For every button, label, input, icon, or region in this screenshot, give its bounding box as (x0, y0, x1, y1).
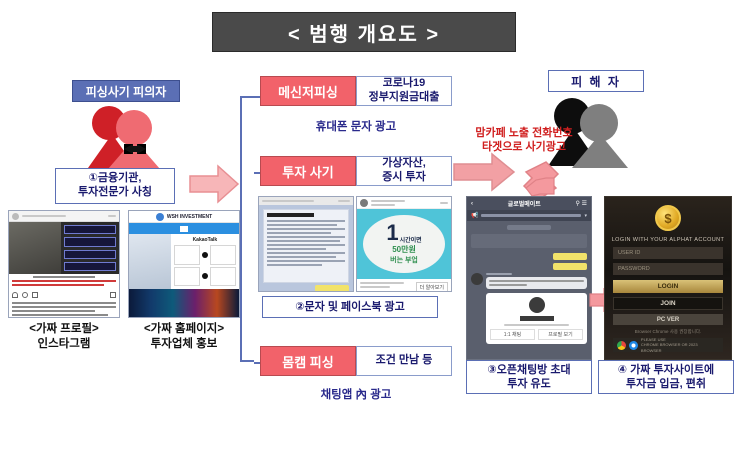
fake-site-login-note: Browser Chrome 사용 권장합니다. (605, 329, 731, 335)
fake-site-pc-version-button[interactable]: PC VER (613, 314, 723, 325)
caption-step2-text: ②문자 및 페이스북 광고 (295, 300, 405, 314)
fake-site-userid-placeholder: USER ID (618, 250, 640, 256)
facebook-page-name-line (371, 200, 405, 202)
facebook-ad-line2: 버는 부업 (390, 255, 418, 265)
homepage-contact-cell[interactable] (210, 267, 236, 287)
sms-text-line (267, 220, 345, 222)
facebook-ad-sub-line (360, 286, 390, 288)
fake-site-login-screen: $ LOGIN WITH YOUR ALPHAT ACCOUNT USER ID… (605, 197, 731, 359)
row-label-investment-fraud: 투자 사기 (260, 156, 356, 186)
caption-step2-sms-facebook: ②문자 및 페이스북 광고 (262, 296, 438, 318)
instagram-text-line-red (12, 280, 116, 282)
facebook-page-avatar (360, 199, 368, 207)
facebook-ad-footer: 더 알아보기 (357, 279, 451, 291)
sms-text-line (267, 260, 345, 262)
sms-header-line (338, 200, 350, 202)
kakao-profile-card-buttons[interactable]: 1:1 채팅 프로필 보기 (490, 329, 583, 340)
bookmark-icon[interactable] (110, 292, 116, 298)
suspect-caption-text: ①금융기관, 투자전문가 사칭 (78, 172, 152, 200)
instagram-text-line (33, 276, 95, 278)
row-sub-sextortion-phishing: 채팅앱 內 광고 (256, 386, 456, 402)
instagram-more-icon (108, 215, 116, 217)
fake-site-password-input[interactable]: PASSWORD (613, 263, 723, 275)
instagram-text-line (12, 314, 108, 316)
suspect-person-icon (88, 106, 180, 168)
instagram-action-bar[interactable] (9, 290, 119, 300)
arrow-suspect-to-rows (188, 162, 240, 206)
fake-site-userid-input[interactable]: USER ID (613, 247, 723, 259)
kakao-view-profile-button[interactable]: 프로필 보기 (538, 329, 583, 340)
instagram-promo-chip (64, 262, 116, 271)
homepage-contact-cell[interactable] (174, 267, 200, 287)
kakao-message-line (489, 284, 527, 286)
homepage-person-photo (129, 234, 171, 289)
facebook-ad-creative: 1 시간이면 50만원 버는 부업 (357, 209, 451, 279)
screenshot-kakao-open-chat[interactable]: ‹ 글로벌메이트 ⚲ ☰ 📢 ▾ (466, 196, 592, 360)
hamburger-menu-icon[interactable] (180, 226, 188, 232)
facebook-post-header (357, 197, 451, 209)
kakao-profile-card[interactable]: 1:1 채팅 프로필 보기 (486, 293, 587, 344)
megaphone-icon: 📢 (471, 212, 478, 219)
caption-fake-profile: <가짜 프로필> 인스타그램 (4, 322, 124, 352)
kakao-incoming-bubble (486, 277, 587, 289)
facebook-more-icon[interactable] (440, 202, 448, 204)
row-sub-messenger-phishing-text: 휴대폰 문자 광고 (316, 121, 396, 133)
back-icon[interactable]: ‹ (471, 201, 473, 207)
instagram-promo-chip (64, 225, 116, 234)
row-detail-investment-fraud-text: 가상자산, 증시 투자 (382, 157, 426, 185)
instagram-username-placeholder (22, 215, 66, 217)
row-detail-sextortion-phishing: 조건 만남 등 (356, 346, 452, 376)
arrow-rows-to-victim (452, 152, 516, 192)
sms-text-line (267, 228, 345, 230)
sms-text-line (267, 244, 345, 246)
caption-step4-fake-site: ④ 가짜 투자사이트에 투자금 입금, 편취 (598, 360, 734, 394)
instagram-text-line-red (12, 284, 104, 286)
homepage-navbar[interactable] (129, 223, 239, 234)
chevron-down-icon[interactable]: ▾ (584, 213, 587, 219)
kakao-sender-name-line (486, 273, 512, 275)
sms-header-line (262, 200, 314, 202)
instagram-header (9, 211, 119, 222)
sms-text-line (267, 224, 337, 226)
row-label-messenger-phishing: 메신저피싱 (260, 76, 356, 106)
suspect-caption: ①금융기관, 투자전문가 사칭 (55, 168, 175, 204)
sms-bubble-outgoing (315, 285, 349, 292)
homepage-contact-grid: KakaoTalk (171, 234, 239, 289)
victim-note: 맘카페 노출 전화번호 타겟으로 사기광고 (424, 126, 624, 155)
row-label-sextortion-phishing-text: 몸캠 피싱 (282, 352, 333, 371)
fake-site-browser-note: PLEASE USE CHROME BROWSER OR 2023 BROWSE… (641, 337, 719, 353)
kakao-outgoing-bubble (553, 263, 587, 270)
instagram-text-line (12, 306, 116, 308)
kakao-direct-chat-button[interactable]: 1:1 채팅 (490, 329, 535, 340)
screenshot-facebook-advertisement[interactable]: 1 시간이면 50만원 버는 부업 더 알아보기 (356, 196, 452, 292)
row-label-sextortion-phishing: 몸캠 피싱 (260, 346, 356, 376)
instagram-text-line (12, 302, 116, 304)
fake-site-login-button[interactable]: LOGIN (613, 280, 723, 293)
instagram-post-redtext-block (9, 274, 119, 290)
homepage-hero: KakaoTalk (129, 234, 239, 289)
instagram-promo-chip (64, 250, 116, 259)
sms-text-line (267, 236, 345, 238)
caption-step3-openchat: ③오픈채팅방 초대 투자 유도 (466, 360, 592, 394)
row-sub-sextortion-phishing-text: 채팅앱 內 광고 (321, 389, 392, 401)
sms-text-line (267, 256, 336, 258)
fake-site-password-placeholder: PASSWORD (618, 266, 650, 272)
facebook-learn-more-button[interactable]: 더 알아보기 (416, 282, 448, 292)
fake-site-login-heading: LOGIN WITH YOUR ALPHAT ACCOUNT (605, 237, 731, 243)
homepage-brand-text: WSH INVESTMENT (167, 214, 212, 220)
kakao-room-title: 글로벌메이트 (508, 199, 541, 208)
instagram-text-line (12, 310, 95, 312)
kakao-chat-body: 1:1 채팅 프로필 보기 (467, 221, 591, 359)
edge-icon (629, 341, 638, 350)
homepage-brand-bar: WSH INVESTMENT (129, 211, 239, 223)
kakao-date-divider (507, 225, 551, 230)
sms-header (259, 197, 353, 205)
kakao-sender-avatar (471, 273, 483, 285)
facebook-ad-unit: 시간이면 (400, 235, 422, 244)
instagram-post-image (9, 222, 119, 274)
caption-fake-homepage: <가짜 홈페이지> 투자업체 홍보 (124, 322, 244, 352)
victim-note-text: 맘카페 노출 전화번호 타겟으로 사기광고 (475, 127, 572, 153)
diagram-title: < 범행 개요도 > (212, 12, 516, 52)
row-detail-sextortion-phishing-text: 조건 만남 등 (376, 354, 433, 368)
sms-thread (259, 205, 353, 291)
row-label-investment-fraud-text: 투자 사기 (282, 162, 333, 181)
comment-icon[interactable] (22, 292, 28, 298)
diagram-title-text: < 범행 개요도 > (288, 18, 440, 47)
chrome-icon (617, 341, 626, 350)
facebook-ad-headline-line (360, 282, 404, 284)
gear-icon (202, 252, 208, 258)
row-detail-investment-fraud: 가상자산, 증시 투자 (356, 156, 452, 186)
suspect-label-text: 피싱사기 피의자 (86, 83, 167, 100)
kakao-header-actions[interactable]: ⚲ ☰ (576, 200, 587, 207)
homepage-market-chart-image (129, 289, 239, 318)
facebook-sponsored-line (371, 204, 395, 206)
heart-icon[interactable] (12, 292, 18, 298)
gear-icon (202, 273, 208, 279)
sms-text-line (267, 264, 322, 266)
sms-text-line (267, 252, 345, 254)
instagram-avatar-icon (12, 213, 19, 220)
suspect-bowtie-icon (124, 144, 146, 154)
screenshot-fake-investment-site[interactable]: $ LOGIN WITH YOUR ALPHAT ACCOUNT USER ID… (604, 196, 732, 360)
sms-text-line (267, 232, 331, 234)
facebook-ad-oval: 1 시간이면 50만원 버는 부업 (363, 215, 446, 274)
kakao-profile-desc-line (504, 324, 569, 326)
kakao-chat-header: ‹ 글로벌메이트 ⚲ ☰ (467, 197, 591, 210)
victim-label: 피 해 자 (548, 70, 644, 92)
instagram-promo-chip (64, 237, 116, 246)
homepage-contact-row (174, 245, 236, 265)
homepage-contact-cell[interactable] (210, 245, 236, 265)
screenshot-fake-homepage[interactable]: WSH INVESTMENT KakaoTalk (128, 210, 240, 318)
screenshot-fake-instagram-profile[interactable] (8, 210, 120, 318)
kakao-notice-bar[interactable]: 📢 ▾ (467, 210, 591, 221)
kakao-message-line (489, 280, 584, 282)
homepage-logo-icon (156, 213, 164, 221)
victim-label-text: 피 해 자 (571, 73, 621, 90)
sms-redacted-line (267, 213, 314, 217)
kakao-brand-text: KakaoTalk (174, 237, 236, 243)
row-label-messenger-phishing-text: 메신저피싱 (278, 82, 338, 101)
kakao-system-notice (471, 234, 587, 248)
row-detail-messenger-phishing: 코로나19 정부지원금대출 (356, 76, 452, 106)
kakao-notice-text-line (481, 214, 581, 217)
instagram-post-person-photo (9, 222, 61, 274)
share-icon[interactable] (32, 292, 38, 298)
homepage-contact-row (174, 267, 236, 287)
coin-icon: $ (655, 205, 681, 231)
facebook-ad-big-number: 1 (386, 222, 398, 244)
sms-text-line (267, 248, 326, 250)
row-detail-messenger-phishing-text: 코로나19 정부지원금대출 (369, 77, 440, 105)
fake-site-join-button[interactable]: JOIN (613, 297, 723, 310)
kakao-outgoing-bubble (553, 253, 587, 260)
suspect-label: 피싱사기 피의자 (72, 80, 180, 102)
fake-site-browser-bar: PLEASE USE CHROME BROWSER OR 2023 BROWSE… (613, 338, 723, 352)
kakao-profile-name-redacted (520, 316, 554, 321)
facebook-ad-line1: 50만원 (392, 244, 416, 255)
instagram-post-text-panel (61, 222, 119, 274)
sms-bubble-incoming (263, 209, 349, 283)
homepage-contact-cell[interactable] (174, 245, 200, 265)
screenshot-sms-advertisement[interactable] (258, 196, 354, 292)
arrow-into-openchat (522, 176, 556, 198)
instagram-caption-text (9, 300, 119, 318)
sms-text-line (267, 240, 340, 242)
kakao-profile-avatar (529, 297, 545, 313)
